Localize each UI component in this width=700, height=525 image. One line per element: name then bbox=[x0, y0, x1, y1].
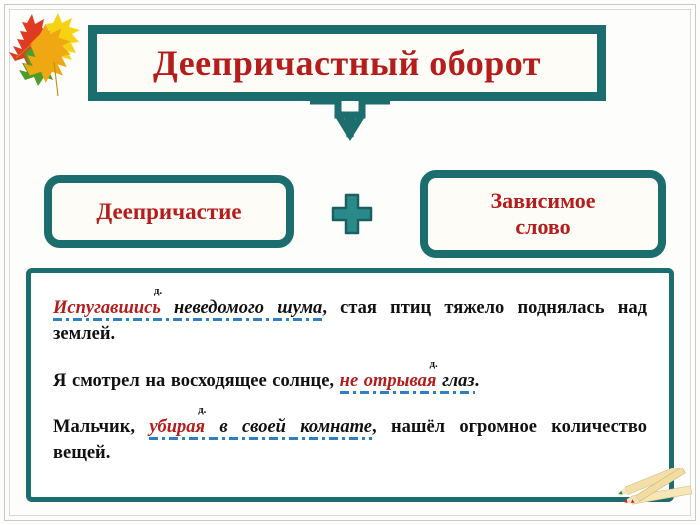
gerund-word-1: Испугавшись bbox=[53, 298, 161, 318]
pencils-icon bbox=[616, 468, 696, 520]
example-lead-3: Мальчик, bbox=[53, 417, 149, 437]
gerund-tail-3: в своей комнате bbox=[205, 417, 372, 437]
concept-box-dependent-word: Зависимое слово bbox=[420, 170, 666, 258]
example-lead-2: Я смотрел на восходящее солнце, bbox=[53, 371, 340, 391]
gerund-word-3: убирая bbox=[149, 417, 205, 437]
title-box: Деепричастный оборот bbox=[88, 25, 606, 101]
concept-label-gerund: Деепричастие bbox=[96, 199, 241, 225]
concept-box-gerund: Деепричастие bbox=[44, 175, 294, 248]
example-rest-2: . bbox=[475, 371, 480, 391]
gerund-word-2: не отрывая bbox=[340, 371, 437, 391]
example-sentence-3: Мальчик, убираяд. в своей комнате, нашёл… bbox=[53, 414, 647, 467]
down-arrow-icon bbox=[308, 99, 392, 145]
gerund-tail-2: глаз bbox=[436, 371, 474, 391]
maple-leaves-icon bbox=[6, 10, 86, 96]
gerund-tail-1: неведомого шума bbox=[161, 298, 323, 318]
slide-canvas: Деепричастный оборот Деепричастие Зависи… bbox=[0, 0, 700, 525]
example-sentence-1: Испугавшисьд. неведомого шума, стая птиц… bbox=[53, 295, 647, 348]
page-title: Деепричастный оборот bbox=[153, 42, 541, 84]
examples-panel: Испугавшисьд. неведомого шума, стая птиц… bbox=[26, 268, 674, 502]
concept-label-dependent-line1: Зависимое bbox=[490, 188, 595, 214]
gerund-phrase-3: убираяд. в своей комнате bbox=[149, 417, 372, 440]
gerund-phrase-1: Испугавшисьд. неведомого шума bbox=[53, 298, 322, 321]
plus-icon bbox=[331, 193, 373, 235]
gerund-phrase-2: не отрываяд. глаз bbox=[340, 371, 475, 394]
concept-label-dependent-line2: слово bbox=[515, 214, 570, 240]
example-sentence-2: Я смотрел на восходящее солнце, не отрыв… bbox=[53, 368, 647, 394]
